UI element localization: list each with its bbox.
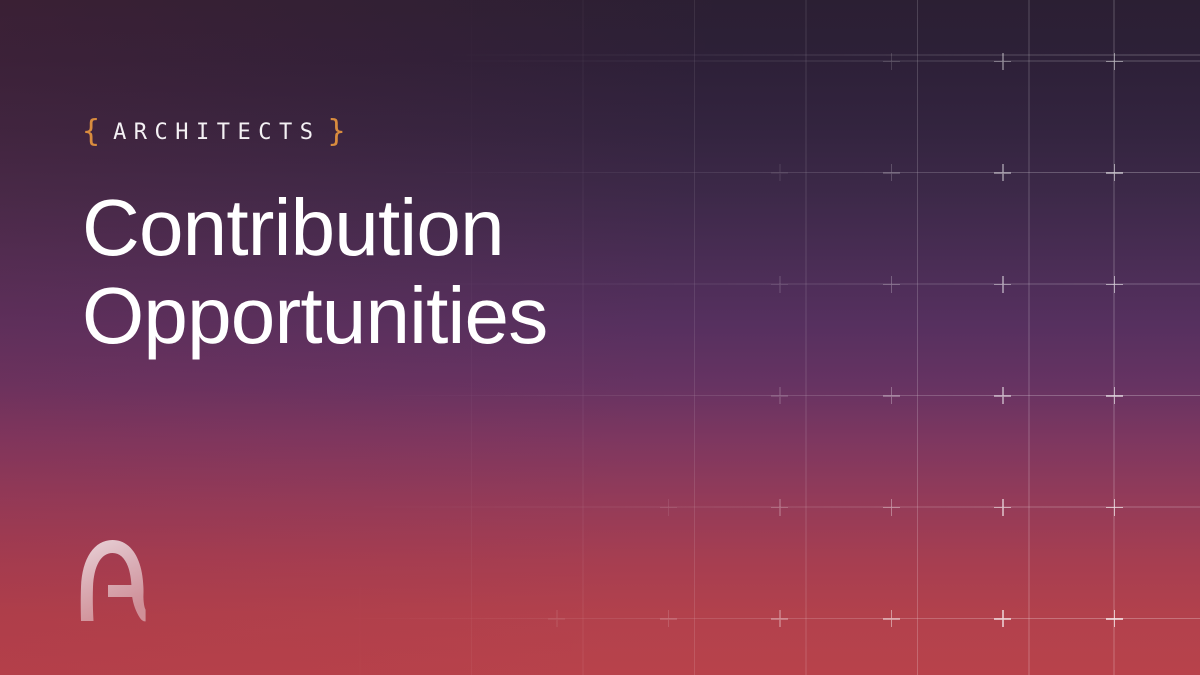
grid-plus-icon [548,610,565,627]
grid-plus-icon [994,53,1011,70]
grid-plus-icon [883,53,900,70]
grid-plus-icon [1106,610,1123,627]
grid-plus-icon [771,499,788,516]
grid-plus-icon [1106,499,1123,516]
grid-plus-icon [1106,53,1123,70]
grid-plus-icon [883,499,900,516]
grid-plus-icon [771,387,788,404]
logo [76,537,148,623]
grid-plus-icon [883,164,900,181]
grid-plus-icon [771,610,788,627]
grid-plus-icon [883,276,900,293]
brace-left-glyph: { [82,117,100,147]
grid-plus-icon [660,499,677,516]
slide-canvas: { ARCHITECTS } Contribution Opportunitie… [0,0,1200,675]
grid-plus-icon [994,276,1011,293]
grid-plus-icon [883,387,900,404]
grid-plus-icon [1106,164,1123,181]
grid-plus-icon [660,610,677,627]
eyebrow-text: ARCHITECTS [113,122,320,144]
grid-plus-icon [994,610,1011,627]
grid-plus-icon [994,499,1011,516]
page-title: Contribution Opportunities [82,148,802,360]
grid-plus-icon [994,387,1011,404]
brace-right-glyph: } [328,117,346,147]
arch-a-glyph [81,540,146,621]
eyebrow-label: { ARCHITECTS } [82,118,802,148]
grid-plus-icon [1106,276,1123,293]
grid-plus-icon [1106,387,1123,404]
slide-content: { ARCHITECTS } Contribution Opportunitie… [82,118,802,360]
grid-plus-icon [883,610,900,627]
grid-plus-icon [994,164,1011,181]
